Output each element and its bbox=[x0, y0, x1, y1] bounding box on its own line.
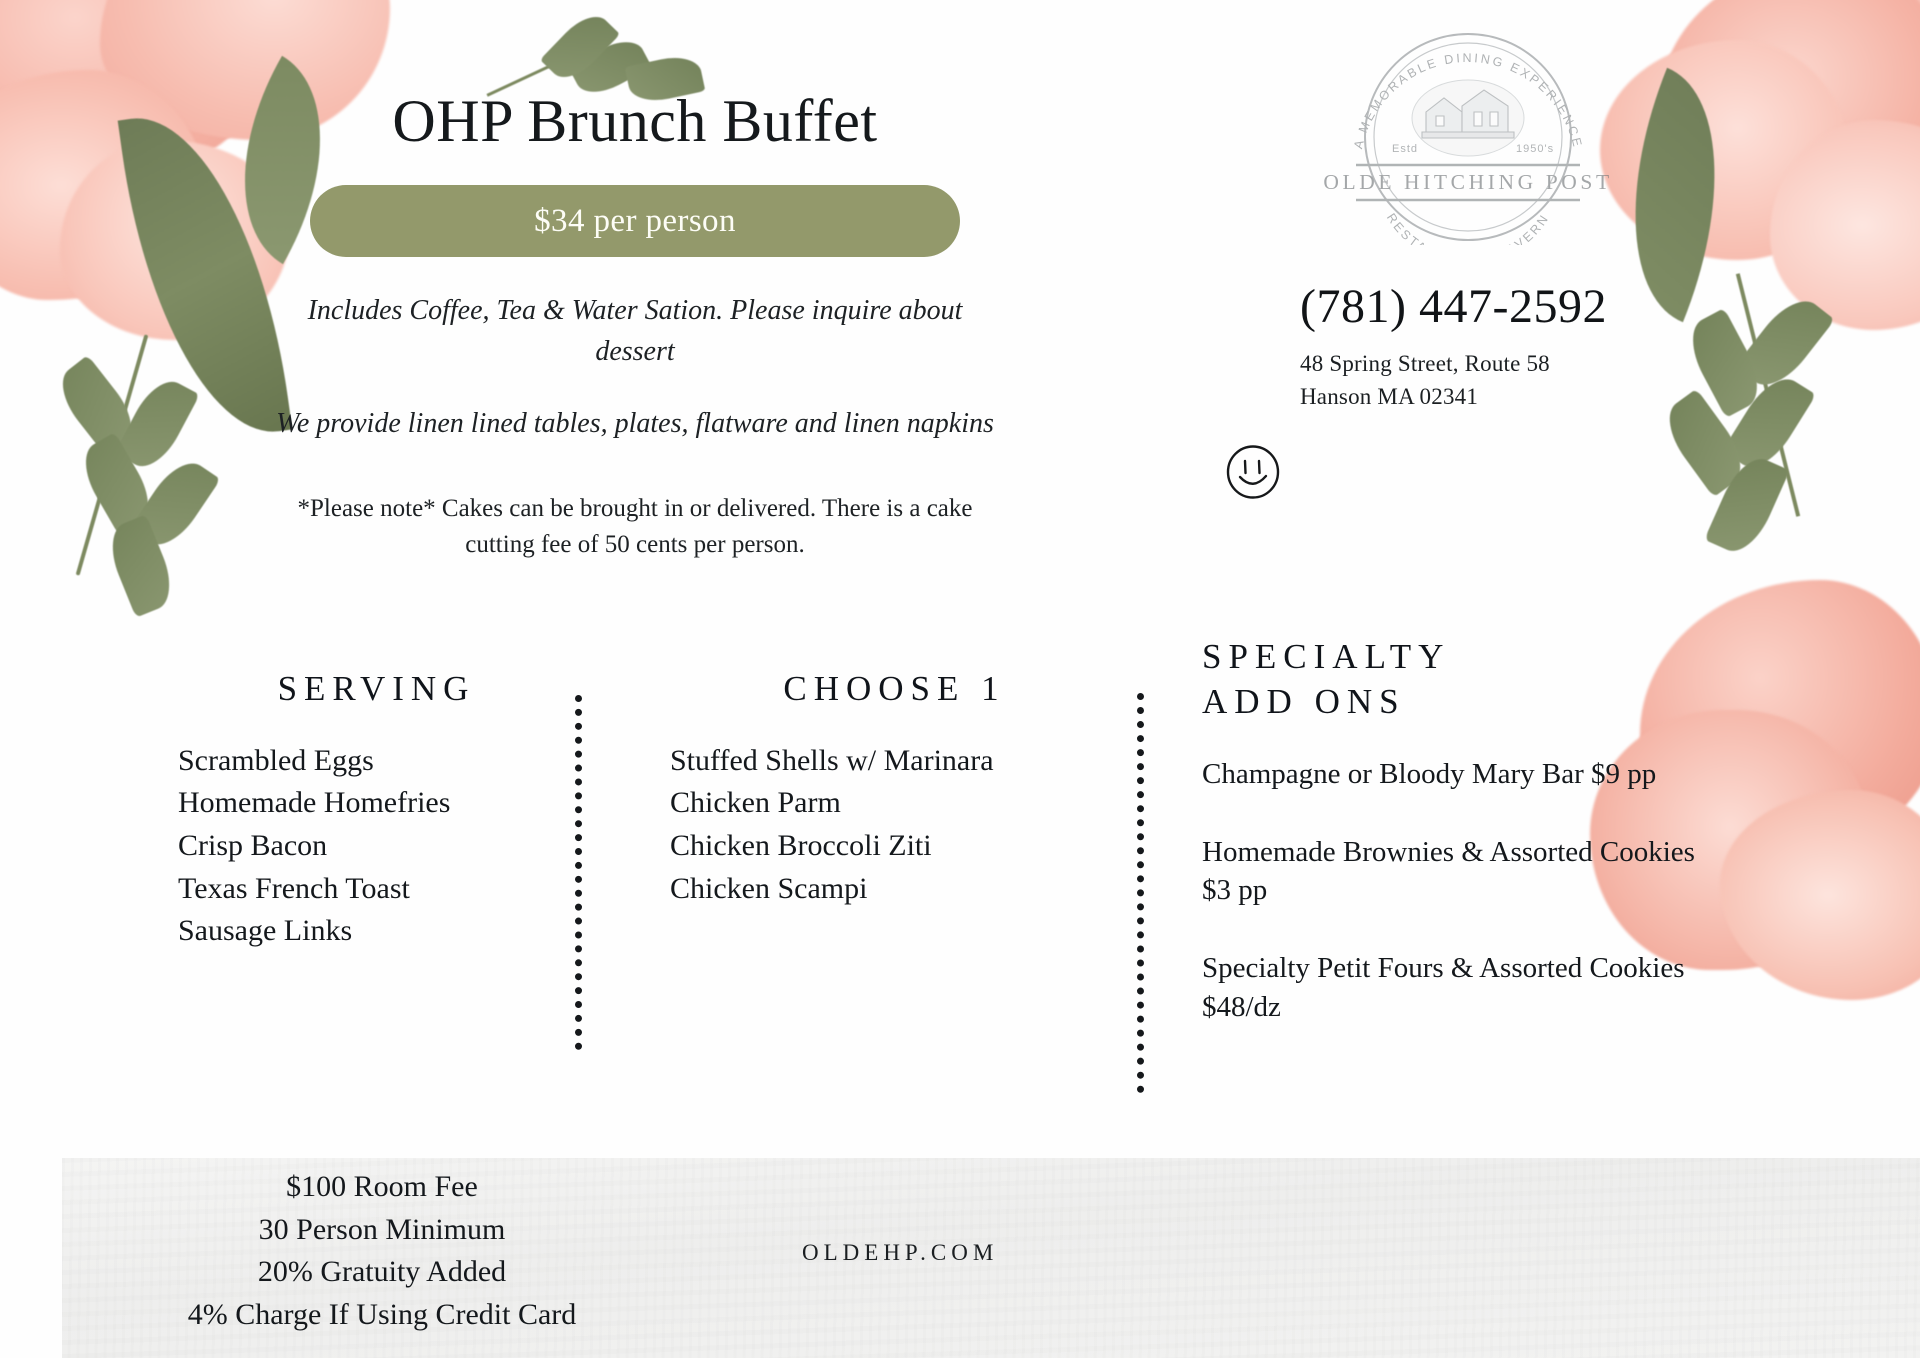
list-item: Homemade Brownies & Assorted Cookies $3 … bbox=[1196, 833, 1704, 910]
list-item: Chicken Parm bbox=[670, 782, 1137, 825]
choose-heading: CHOOSE 1 bbox=[652, 667, 1137, 712]
brand-contact-block: A MEMORABLE DINING EXPERIENCE RESTARAUNT… bbox=[1300, 30, 1720, 413]
serving-heading: SERVING bbox=[178, 667, 575, 712]
choose-item-list: Stuffed Shells w/ Marinara Chicken Parm … bbox=[652, 740, 1137, 910]
column-serving: SERVING Scrambled Eggs Homemade Homefrie… bbox=[0, 635, 575, 1165]
logo-badge-icon: A MEMORABLE DINING EXPERIENCE RESTARAUNT… bbox=[1318, 30, 1618, 245]
menu-header: OHP Brunch Buffet $34 per person Include… bbox=[255, 90, 1015, 563]
cake-note: *Please note* Cakes can be brought in or… bbox=[255, 491, 1015, 564]
page-title: OHP Brunch Buffet bbox=[255, 90, 1015, 153]
list-item: Texas French Toast bbox=[178, 868, 575, 911]
list-item: Sausage Links bbox=[178, 910, 575, 953]
menu-page: OHP Brunch Buffet $34 per person Include… bbox=[0, 0, 1920, 1358]
website-link[interactable]: OLDEHP.COM bbox=[802, 1240, 998, 1266]
term-line: 4% Charge If Using Credit Card bbox=[102, 1294, 662, 1337]
price-badge: $34 per person bbox=[310, 185, 960, 257]
addons-heading: SPECIALTY ADD ONS bbox=[1196, 635, 1704, 725]
footer-terms: $100 Room Fee 30 Person Minimum 20% Grat… bbox=[102, 1166, 662, 1336]
logo-name-text: OLDE HITCHING POST bbox=[1323, 170, 1612, 194]
list-item: Crisp Bacon bbox=[178, 825, 575, 868]
list-item: Chicken Scampi bbox=[670, 868, 1137, 911]
column-divider bbox=[575, 695, 582, 1050]
address-line-1: 48 Spring Street, Route 58 bbox=[1300, 348, 1720, 381]
price-badge-label: $34 per person bbox=[534, 203, 736, 240]
list-item: Stuffed Shells w/ Marinara bbox=[670, 740, 1137, 783]
logo-estd-year: 1950's bbox=[1516, 143, 1554, 155]
list-item: Specialty Petit Fours & Assorted Cookies… bbox=[1196, 949, 1704, 1026]
term-line: 20% Gratuity Added bbox=[102, 1251, 662, 1294]
addons-heading-line-1: SPECIALTY bbox=[1202, 635, 1704, 680]
restaurant-logo: A MEMORABLE DINING EXPERIENCE RESTARAUNT… bbox=[1318, 30, 1618, 245]
address-line-2: Hanson MA 02341 bbox=[1300, 381, 1720, 414]
addons-item-list: Champagne or Bloody Mary Bar $9 pp Homem… bbox=[1196, 755, 1704, 1026]
logo-estd-label: Estd bbox=[1392, 143, 1418, 155]
list-item: Homemade Homefries bbox=[178, 782, 575, 825]
list-item: Scrambled Eggs bbox=[178, 740, 575, 783]
linen-note: We provide linen lined tables, plates, f… bbox=[255, 404, 1015, 445]
footer-band: $100 Room Fee 30 Person Minimum 20% Grat… bbox=[62, 1158, 1920, 1358]
smiley-face-icon bbox=[1222, 442, 1284, 509]
list-item: Chicken Broccoli Ziti bbox=[670, 825, 1137, 868]
term-line: 30 Person Minimum bbox=[102, 1209, 662, 1252]
term-line: $100 Room Fee bbox=[102, 1166, 662, 1209]
phone-number[interactable]: (781) 447-2592 bbox=[1300, 279, 1720, 334]
addons-heading-line-2: ADD ONS bbox=[1202, 680, 1704, 725]
list-item: Champagne or Bloody Mary Bar $9 pp bbox=[1196, 755, 1704, 793]
includes-note: Includes Coffee, Tea & Water Sation. Ple… bbox=[255, 291, 1015, 372]
menu-columns: SERVING Scrambled Eggs Homemade Homefrie… bbox=[0, 635, 1920, 1165]
column-specialty-addons: SPECIALTY ADD ONS Champagne or Bloody Ma… bbox=[1144, 635, 1704, 1165]
serving-item-list: Scrambled Eggs Homemade Homefries Crisp … bbox=[178, 740, 575, 953]
column-choose: CHOOSE 1 Stuffed Shells w/ Marinara Chic… bbox=[582, 635, 1137, 1165]
column-divider bbox=[1137, 693, 1144, 1093]
